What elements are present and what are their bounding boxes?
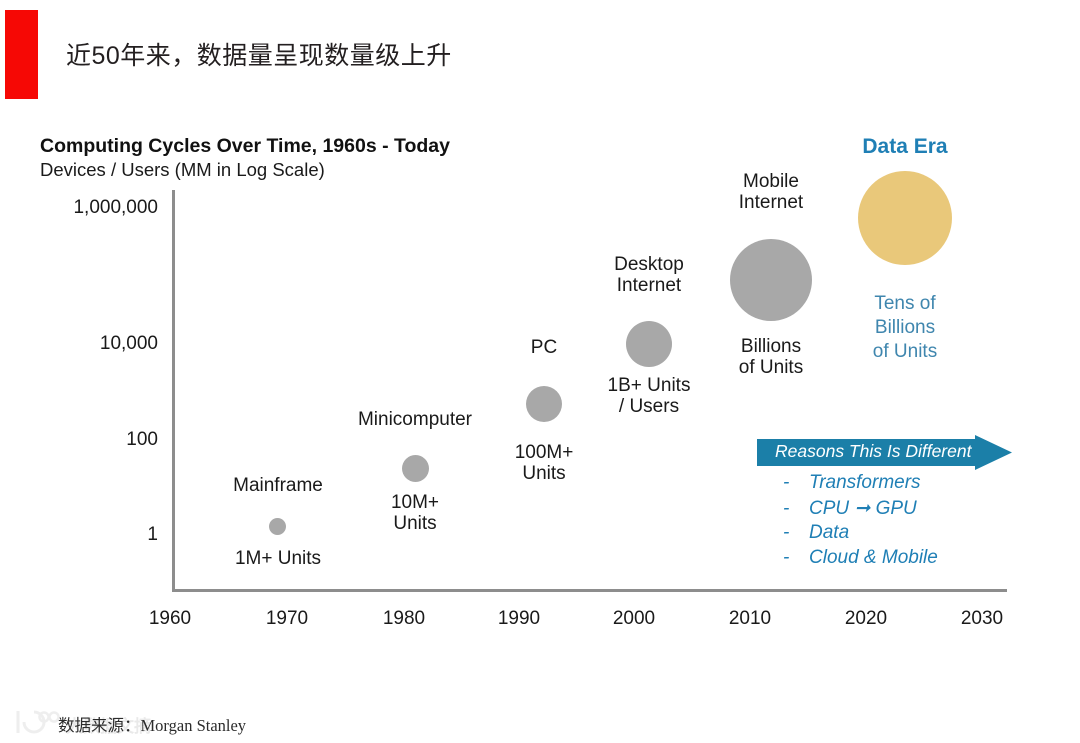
y-tick-label: 100 xyxy=(126,429,158,451)
bubble-label-mainframe: Mainframe xyxy=(198,475,358,496)
reason-text: Cloud & Mobile xyxy=(809,547,938,569)
x-tick-label: 1960 xyxy=(130,608,210,630)
title-accent-bar xyxy=(5,10,38,99)
x-tick-label: 1970 xyxy=(247,608,327,630)
reason-text: CPU ➞ GPU xyxy=(809,497,917,520)
reason-item: - Transformers xyxy=(783,472,1023,497)
reason-text: Transformers xyxy=(809,472,921,494)
y-axis-tick-labels: 1,000,000 10,000 100 1 xyxy=(0,108,158,608)
y-axis-line xyxy=(172,190,175,591)
slide-title: 近50年来，数据量呈现数量级上升 xyxy=(66,36,452,72)
reason-dash: - xyxy=(783,547,809,569)
reasons-banner-label: Reasons This Is Different xyxy=(775,441,971,462)
x-tick-label: 2010 xyxy=(710,608,790,630)
reason-dash: - xyxy=(783,472,809,494)
reasons-list: - Transformers - CPU ➞ GPU - Data - Clou… xyxy=(783,472,1023,572)
bubble-label-data-era: Data Era xyxy=(825,135,985,159)
brand-logo-icon xyxy=(14,708,60,736)
bubble-label-desktop-internet: Desktop Internet xyxy=(574,254,724,297)
bubble-mainframe[interactable] xyxy=(269,518,286,535)
bubble-units-minicomputer: 10M+ Units xyxy=(355,492,475,535)
reason-item: - Cloud & Mobile xyxy=(783,547,1023,572)
bubble-label-minicomputer: Minicomputer xyxy=(325,409,505,430)
bubble-units-data-era: Tens of Billions of Units xyxy=(835,292,975,363)
slide-footer: 大数据文摘 数据来源：Morgan Stanley xyxy=(0,668,1080,743)
chart-figure: Computing Cycles Over Time, 1960s - Toda… xyxy=(0,108,1080,668)
x-tick-label: 2030 xyxy=(942,608,1022,630)
reason-dash: - xyxy=(783,498,809,520)
reason-item: - Data xyxy=(783,522,1023,547)
bubble-units-pc: 100M+ Units xyxy=(474,442,614,485)
reasons-banner: Reasons This Is Different xyxy=(757,435,1012,470)
x-tick-label: 2020 xyxy=(826,608,906,630)
bubble-desktop-internet[interactable] xyxy=(626,321,672,367)
x-tick-label: 2000 xyxy=(594,608,674,630)
x-axis-line xyxy=(172,589,1007,592)
bubble-label-pc: PC xyxy=(484,337,604,358)
x-tick-label: 1990 xyxy=(479,608,559,630)
y-tick-label: 10,000 xyxy=(100,333,158,355)
bubble-minicomputer[interactable] xyxy=(402,455,429,482)
y-tick-label: 1 xyxy=(147,524,158,546)
bubble-label-mobile-internet: Mobile Internet xyxy=(696,171,846,214)
reason-item: - CPU ➞ GPU xyxy=(783,497,1023,522)
y-tick-label: 1,000,000 xyxy=(73,197,158,219)
reason-dash: - xyxy=(783,522,809,544)
bubble-pc[interactable] xyxy=(526,386,562,422)
bubble-data-era[interactable] xyxy=(858,171,952,265)
bubble-mobile-internet[interactable] xyxy=(730,239,812,321)
bubble-units-mobile-internet: Billions of Units xyxy=(701,336,841,379)
source-note: 数据来源：Morgan Stanley xyxy=(58,712,246,736)
reason-text: Data xyxy=(809,522,849,544)
x-tick-label: 1980 xyxy=(364,608,444,630)
bubble-units-mainframe: 1M+ Units xyxy=(198,548,358,569)
bubble-units-desktop-internet: 1B+ Units / Users xyxy=(569,375,729,418)
slide-header: 近50年来，数据量呈现数量级上升 xyxy=(0,0,1080,108)
